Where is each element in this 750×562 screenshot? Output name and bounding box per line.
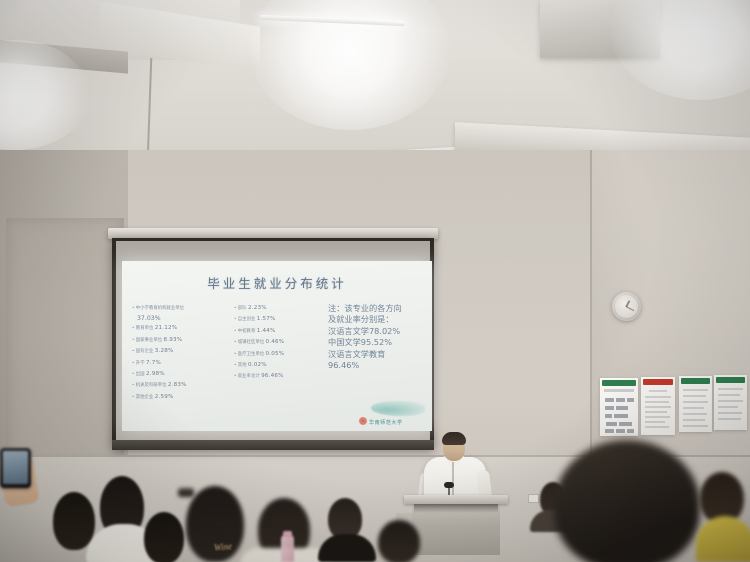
poster-line	[683, 425, 708, 427]
note-line: 汉语言文学78.02%	[328, 326, 428, 337]
slide-note: 注：该专业的各方向 及就业率分别是： 汉语言文学78.02% 中国文学95.52…	[328, 303, 428, 371]
poster-cell	[605, 406, 614, 410]
note-line: 中国文学95.52%	[328, 337, 428, 348]
slide-bullet: • 部队 2.23%	[234, 303, 322, 314]
poster-line	[718, 388, 743, 390]
poster-line	[718, 418, 741, 420]
bullet-label: 机关及科研单位	[136, 383, 167, 388]
audience-head-foreground	[554, 440, 700, 562]
bullet-dot: •	[234, 305, 236, 310]
slide-bullet: • 医疗卫生单位 0.05%	[234, 349, 322, 360]
bullet-value: 1.57%	[257, 316, 276, 322]
bullet-value: 8.93%	[164, 337, 183, 343]
bullet-label: 其他企业	[136, 395, 154, 400]
note-line: 96.46%	[328, 360, 428, 371]
projection-screen: 毕业生就业分布统计 • 中小学教育机构就业单位 37.03% • 教育单位 21…	[112, 228, 434, 450]
bullet-value: 7.7%	[146, 360, 161, 366]
logo-swoosh-icon	[371, 401, 425, 416]
smartphone[interactable]	[0, 448, 31, 488]
poster-cell	[606, 422, 617, 426]
poster-cell	[627, 429, 634, 433]
poster-cell	[616, 429, 625, 433]
bullet-dot: •	[132, 337, 134, 342]
poster-subtitle	[604, 389, 634, 392]
screen-surface: 毕业生就业分布统计 • 中小学教育机构就业单位 37.03% • 教育单位 21…	[116, 241, 430, 445]
bullet-label: 国有企业	[136, 349, 154, 354]
poster-header-green	[716, 377, 745, 383]
poster-line	[645, 416, 670, 418]
note-line: 汉语言文学教育	[328, 349, 428, 360]
bullet-value: 0.02%	[248, 362, 267, 368]
slide-bullet: • 中小学教育机构就业单位	[132, 303, 230, 314]
poster-cell	[614, 414, 628, 418]
bullet-dot: •	[132, 371, 134, 376]
bullet-dot: •	[132, 394, 134, 399]
poster-cell	[619, 422, 632, 426]
bullet-label: 国家事业单位	[136, 338, 162, 343]
poster-green-1	[600, 378, 638, 436]
poster-line	[683, 407, 704, 409]
audience-hairclip	[178, 488, 194, 497]
poster-line	[683, 401, 708, 403]
slide-bullet: • 中初教育 1.44%	[234, 326, 322, 337]
poster-line	[718, 412, 742, 414]
bullet-label: 中小学教育机构就业单位	[136, 306, 184, 311]
slide-title: 毕业生就业分布统计	[122, 273, 432, 292]
slide-bullet: • 其他 0.02%	[234, 360, 322, 371]
slide-bullet: • 教育单位 21.12%	[132, 323, 230, 334]
poster-line	[718, 406, 738, 408]
ceiling-beam-column	[540, 0, 660, 58]
bullet-label: 自主创业	[238, 317, 256, 322]
bullet-value: 21.12%	[155, 325, 178, 331]
bullet-value: 2.23%	[248, 305, 267, 311]
bullet-dot: •	[132, 360, 134, 365]
water-bottle	[281, 535, 294, 562]
bullet-value: 2.83%	[168, 382, 187, 388]
bullet-dot: •	[132, 382, 134, 387]
bullet-dot: •	[234, 328, 236, 333]
clock-minute-hand	[626, 306, 634, 311]
bullet-label: 出国	[136, 372, 145, 377]
bullet-value: 37.03%	[137, 314, 230, 323]
lecture-hall-photo: 毕业生就业分布统计 • 中小学教育机构就业单位 37.03% • 教育单位 21…	[0, 0, 750, 562]
bullet-label: 其他	[238, 363, 247, 368]
slide-logo: 华南师范大学	[357, 401, 427, 427]
bullet-value: 2.59%	[155, 394, 174, 400]
bullet-label: 医疗卫生单位	[238, 352, 264, 357]
poster-line	[645, 396, 671, 398]
slide-bullet: • 国有企业 3.28%	[132, 346, 230, 357]
bullet-value: 1.44%	[257, 328, 276, 334]
bullet-dot: •	[234, 316, 236, 321]
wall-outlet	[528, 494, 539, 503]
slide-bullet: • 其他企业 2.59%	[132, 392, 230, 403]
slide-bullet: • 国家事业单位 8.93%	[132, 335, 230, 346]
poster-cell	[616, 406, 628, 410]
audience-head	[378, 520, 420, 562]
logo-text: 华南师范大学	[369, 419, 403, 426]
logo-seal-icon	[359, 417, 367, 425]
slide-bullet: • 城镇社区单位 0.46%	[234, 337, 322, 348]
poster-line	[683, 419, 705, 421]
podium-shadow	[414, 504, 498, 513]
screen-bottom-bar	[112, 440, 434, 450]
audience-shirt-graphic: Wine	[214, 541, 233, 553]
note-line: 注：该专业的各方向	[328, 303, 428, 314]
bullet-label: 就业率总计	[238, 374, 260, 379]
bullet-label: 城镇社区单位	[238, 340, 264, 345]
poster-line	[718, 394, 740, 396]
bullet-label: 升学	[136, 361, 145, 366]
slide-column-mid: • 部队 2.23% • 自主创业 1.57% • 中初教育 1.44%	[234, 303, 322, 383]
slide-bullet: • 机关及科研单位 2.83%	[132, 380, 230, 391]
poster-green-3	[714, 375, 747, 430]
poster-line	[645, 421, 665, 423]
poster-line	[649, 390, 667, 392]
bullet-value: 96.46%	[261, 373, 284, 379]
poster-cell	[616, 398, 625, 402]
poster-line	[683, 413, 707, 415]
slide-column-left: • 中小学教育机构就业单位 37.03% • 教育单位 21.12% • 国家事…	[132, 303, 230, 403]
screen-frame: 毕业生就业分布统计 • 中小学教育机构就业单位 37.03% • 教育单位 21…	[112, 238, 434, 448]
audience-head	[144, 512, 184, 562]
poster-line	[683, 389, 708, 391]
bullet-dot: •	[132, 348, 134, 353]
bullet-dot: •	[132, 325, 134, 330]
audience-head	[53, 492, 95, 550]
slide-bullet: • 自主创业 1.57%	[234, 314, 322, 325]
left-wall-panel	[6, 218, 124, 468]
slide-bullet-total: • 就业率总计 96.46%	[234, 371, 322, 382]
poster-line	[645, 426, 669, 428]
speaker-hair	[442, 432, 466, 445]
projected-slide: 毕业生就业分布统计 • 中小学教育机构就业单位 37.03% • 教育单位 21…	[122, 261, 432, 431]
poster-green-2	[679, 376, 712, 432]
slide-bullet: • 升学 7.7%	[132, 358, 230, 369]
poster-header-red	[643, 379, 673, 385]
poster-cell	[605, 429, 614, 433]
bullet-dot: •	[234, 373, 236, 378]
bullet-value: 0.46%	[266, 339, 285, 345]
poster-red	[641, 377, 675, 435]
bullet-dot: •	[234, 362, 236, 367]
podium-top	[404, 495, 508, 504]
poster-header-green	[602, 380, 636, 386]
slide-bullet: • 出国 2.98%	[132, 369, 230, 380]
bullet-label: 教育单位	[136, 326, 154, 331]
clock-face	[615, 295, 638, 318]
bullet-value: 3.28%	[155, 348, 174, 354]
poster-header-green	[681, 378, 710, 384]
bullet-label: 部队	[238, 306, 247, 311]
note-line: 及就业率分别是：	[328, 314, 428, 325]
poster-cell	[627, 398, 634, 402]
wall-clock	[612, 292, 641, 321]
bullet-value: 2.98%	[146, 371, 165, 377]
bullet-dot: •	[234, 339, 236, 344]
poster-line	[718, 400, 743, 402]
poster-cell	[605, 398, 614, 402]
bullet-dot: •	[132, 305, 134, 310]
poster-line	[683, 395, 706, 397]
bullet-dot: •	[234, 351, 236, 356]
poster-line	[645, 411, 667, 413]
poster-cell	[605, 414, 612, 418]
bottle-cap	[283, 531, 292, 537]
bullet-value: 0.05%	[266, 351, 285, 357]
bullet-label: 中初教育	[238, 329, 256, 334]
phone-screen[interactable]	[3, 451, 28, 484]
poster-line	[645, 406, 671, 408]
poster-line	[645, 401, 669, 403]
microphone-icon	[444, 482, 454, 488]
